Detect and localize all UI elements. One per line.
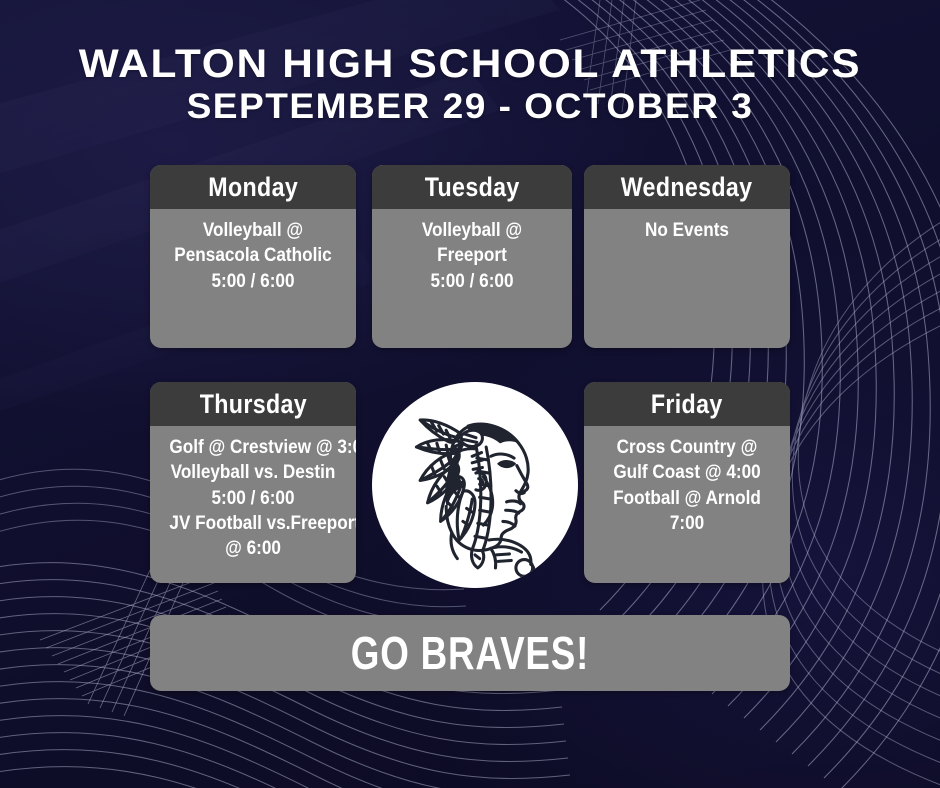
title-line-dates: SEPTEMBER 29 - OCTOBER 3 <box>0 89 940 124</box>
event-line: JV Football vs.Freeport <box>169 511 336 536</box>
day-events-wednesday: No Events <box>584 209 790 253</box>
day-name-thursday: Thursday <box>199 391 306 418</box>
event-line: 7:00 <box>603 511 770 536</box>
day-name-tuesday: Tuesday <box>425 174 520 201</box>
event-line: Volleyball vs. Destin <box>169 460 336 485</box>
event-line: @ 6:00 <box>169 536 336 561</box>
day-card-friday: Friday Cross Country @ Gulf Coast @ 4:00… <box>584 382 790 583</box>
braves-mascot-logo <box>372 382 578 588</box>
day-header-thursday: Thursday <box>150 382 356 426</box>
day-card-wednesday: Wednesday No Events <box>584 165 790 348</box>
day-events-thursday: Golf @ Crestview @ 3:00 Volleyball vs. D… <box>150 426 356 572</box>
event-line: Freeport <box>391 243 553 268</box>
day-name-friday: Friday <box>651 391 723 418</box>
day-card-thursday: Thursday Golf @ Crestview @ 3:00 Volleyb… <box>150 382 356 583</box>
day-header-friday: Friday <box>584 382 790 426</box>
event-line: Golf @ Crestview @ 3:00 <box>169 435 336 460</box>
day-header-monday: Monday <box>150 165 356 209</box>
go-braves-text: GO BRAVES! <box>351 630 589 676</box>
title-line-school: WALTON HIGH SCHOOL ATHLETICS <box>0 44 940 84</box>
event-line: 5:00 / 6:00 <box>169 486 336 511</box>
event-line: 5:00 / 6:00 <box>391 269 553 294</box>
event-line: 5:00 / 6:00 <box>169 269 336 294</box>
event-line: Volleyball @ <box>391 218 553 243</box>
day-card-tuesday: Tuesday Volleyball @ Freeport 5:00 / 6:0… <box>372 165 572 348</box>
go-braves-banner: GO BRAVES! <box>150 615 790 691</box>
day-card-monday: Monday Volleyball @ Pensacola Catholic 5… <box>150 165 356 348</box>
day-events-tuesday: Volleyball @ Freeport 5:00 / 6:00 <box>372 209 572 304</box>
event-line: Football @ Arnold <box>603 486 770 511</box>
poster-title: WALTON HIGH SCHOOL ATHLETICS SEPTEMBER 2… <box>0 44 940 124</box>
day-header-tuesday: Tuesday <box>372 165 572 209</box>
event-line: Volleyball @ <box>169 218 336 243</box>
day-name-monday: Monday <box>208 174 298 201</box>
poster-background: WALTON HIGH SCHOOL ATHLETICS SEPTEMBER 2… <box>0 0 940 788</box>
day-events-monday: Volleyball @ Pensacola Catholic 5:00 / 6… <box>150 209 356 304</box>
day-events-friday: Cross Country @ Gulf Coast @ 4:00 Footba… <box>584 426 790 546</box>
day-name-wednesday: Wednesday <box>621 174 753 201</box>
event-line: Cross Country @ <box>603 435 770 460</box>
event-line: Gulf Coast @ 4:00 <box>603 460 770 485</box>
event-line: No Events <box>603 218 770 243</box>
event-line: Pensacola Catholic <box>169 243 336 268</box>
day-header-wednesday: Wednesday <box>584 165 790 209</box>
